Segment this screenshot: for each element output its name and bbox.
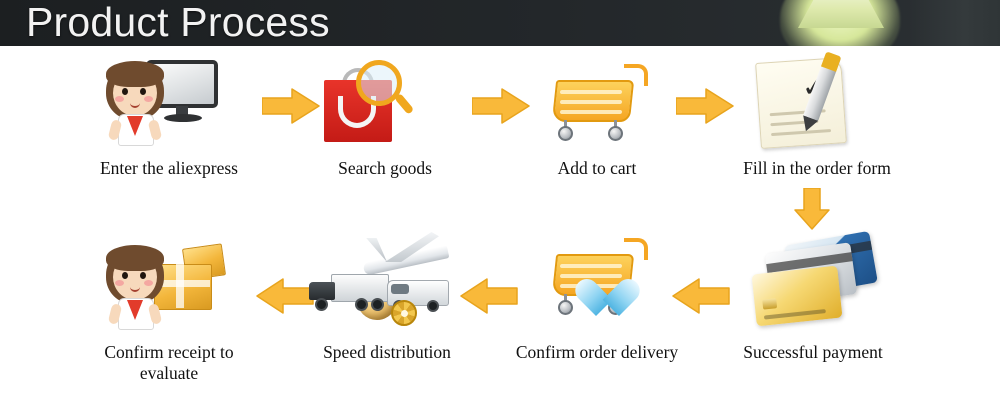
cart-glyph — [546, 62, 652, 148]
flow-step-speed-distribution[interactable]: Speed distribution — [302, 228, 472, 363]
girl-with-monitor-icon — [94, 54, 244, 154]
flow-step-label: Fill in the order form — [732, 158, 902, 179]
flow-step-add-to-cart[interactable]: Add to cart — [512, 54, 682, 179]
gear-icon — [391, 300, 417, 326]
flow-step-label: Search goods — [300, 158, 470, 179]
shopping-bag-magnifier-icon — [310, 54, 460, 154]
flow-step-successful-payment[interactable]: Successful payment — [728, 228, 898, 363]
heart-icon — [574, 280, 618, 320]
flow-step-label: Successful payment — [728, 342, 898, 363]
cart-with-heart-icon — [522, 228, 672, 338]
girl-avatar-icon — [102, 242, 168, 334]
search-icon — [356, 60, 416, 122]
flow-step-enter-aliexpress[interactable]: Enter the aliexpress — [84, 54, 254, 179]
flow-step-confirm-order-delivery[interactable]: Confirm order delivery — [512, 228, 682, 363]
flow-step-fill-order-form[interactable]: ✓ Fill in the order form — [732, 54, 902, 179]
plane-truck-van-globe-icon — [305, 228, 469, 338]
shopping-cart-icon — [522, 54, 672, 154]
girl-avatar-icon — [102, 58, 168, 150]
header-banner: Product Process — [0, 0, 1000, 46]
flow-step-search-goods[interactable]: Search goods — [300, 54, 470, 179]
flow-row-bottom: Confirm receipt to evaluate — [0, 228, 1000, 388]
credit-cards-icon — [738, 228, 888, 338]
flow-step-label: Speed distribution — [302, 342, 472, 363]
flow-step-label: Add to cart — [512, 158, 682, 179]
truck-icon — [309, 272, 391, 318]
flow-row-top: Enter the aliexpress Search goods — [0, 46, 1000, 186]
flow-step-confirm-receipt[interactable]: Confirm receipt to evaluate — [84, 228, 254, 383]
flow-step-label: Confirm order delivery — [512, 342, 682, 363]
header-right-shade — [910, 0, 1000, 46]
girl-with-parcels-icon — [94, 228, 244, 338]
order-form-pen-icon: ✓ — [742, 54, 892, 154]
page-title: Product Process — [26, 0, 330, 46]
flow-step-label: Enter the aliexpress — [84, 158, 254, 179]
flow-step-label: Confirm receipt to evaluate — [84, 342, 254, 383]
